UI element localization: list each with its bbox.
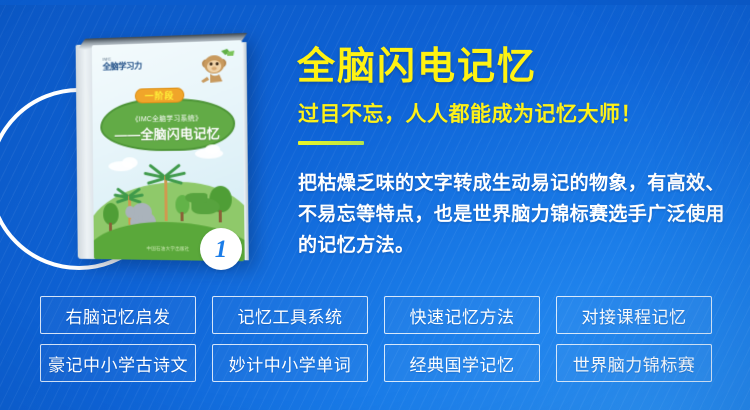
accent-underline bbox=[298, 141, 364, 145]
feature-tag[interactable]: 经典国学记忆 bbox=[384, 344, 540, 382]
body-description: 把枯燥乏味的文字转成生动易记的物象，有高效、不易忘等特点，也是世界脑力锦标赛选手… bbox=[298, 168, 730, 261]
feature-tag[interactable]: 快速记忆方法 bbox=[384, 296, 540, 334]
feature-tag[interactable]: 右脑记忆启发 bbox=[40, 296, 196, 334]
crocodile-head bbox=[185, 193, 207, 203]
product-visual: IMC 全脑学习力 一阶段 bbox=[0, 0, 290, 300]
feature-tag[interactable]: 豪记中小学古诗文 bbox=[40, 344, 196, 382]
step-number-badge: 1 bbox=[200, 228, 242, 270]
feature-tag[interactable]: 世界脑力锦标赛 bbox=[556, 344, 712, 382]
feature-tag[interactable]: 对接课程记忆 bbox=[556, 296, 712, 334]
cover-title-blob: 《IMC全脑学习系统》 ——全脑闪电记忆 bbox=[100, 97, 235, 151]
promo-banner: IMC 全脑学习力 一阶段 bbox=[0, 0, 750, 410]
headline: 全脑闪电记忆 bbox=[297, 48, 537, 86]
palm-stem bbox=[164, 175, 167, 221]
brand-logo-name: 全脑学习力 bbox=[103, 61, 142, 71]
subheadline: 过目不忘，人人都能成为记忆大师！ bbox=[298, 104, 642, 125]
feature-tag[interactable]: 记忆工具系统 bbox=[212, 296, 368, 334]
feature-tag[interactable]: 妙计中小学单词 bbox=[212, 344, 368, 382]
elephant-ear bbox=[125, 206, 135, 218]
feature-tag-grid: 右脑记忆启发 记忆工具系统 快速记忆方法 对接课程记忆 豪记中小学古诗文 妙计中… bbox=[40, 296, 712, 382]
stage-badge: 一阶段 bbox=[135, 87, 185, 103]
monkey-mascot-icon bbox=[197, 49, 236, 85]
cloud-shape bbox=[122, 157, 138, 168]
tree-trunk bbox=[181, 212, 184, 221]
tree-trunk bbox=[219, 210, 222, 222]
brand-logo: IMC 全脑学习力 bbox=[103, 57, 142, 72]
cloud-shape bbox=[205, 144, 220, 154]
tree-shape bbox=[103, 203, 119, 225]
cover-course-title: ——全脑闪电记忆 bbox=[102, 123, 233, 144]
